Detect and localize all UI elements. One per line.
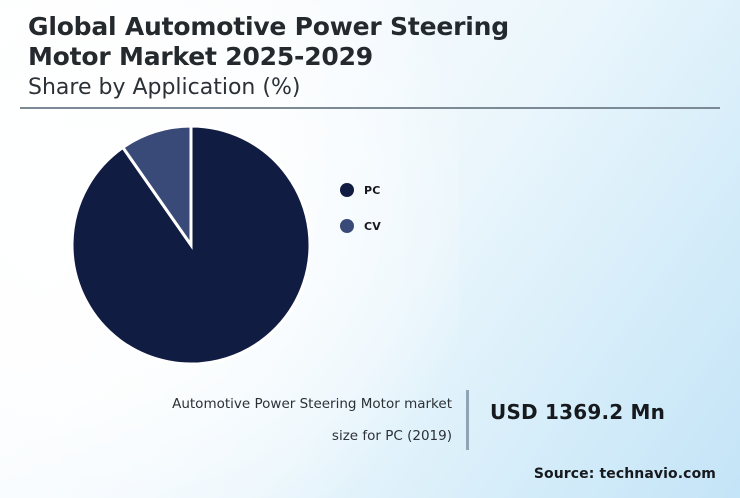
footer-caption: Automotive Power Steering Motor market s… — [162, 388, 452, 452]
chart-legend: PC CV — [340, 172, 480, 244]
pie-chart — [72, 126, 310, 364]
legend-item-pc[interactable]: PC — [340, 172, 480, 208]
pie-chart-svg — [72, 126, 310, 364]
legend-swatch-cv-icon — [340, 219, 354, 233]
footer-divider — [466, 390, 469, 450]
footer-value: USD 1369.2 Mn — [490, 400, 665, 424]
legend-item-cv[interactable]: CV — [340, 208, 480, 244]
infographic-canvas: Global Automotive Power Steering Motor M… — [0, 0, 740, 498]
page-subtitle: Share by Application (%) — [28, 74, 718, 102]
legend-label-pc: PC — [364, 184, 381, 197]
page-title: Global Automotive Power Steering Motor M… — [28, 12, 718, 72]
header-divider — [20, 107, 720, 109]
footer-callout: Automotive Power Steering Motor market s… — [0, 388, 740, 454]
legend-swatch-pc-icon — [340, 183, 354, 197]
header: Global Automotive Power Steering Motor M… — [28, 12, 718, 102]
source-attribution: Source: technavio.com — [534, 466, 716, 482]
legend-label-cv: CV — [364, 220, 381, 233]
